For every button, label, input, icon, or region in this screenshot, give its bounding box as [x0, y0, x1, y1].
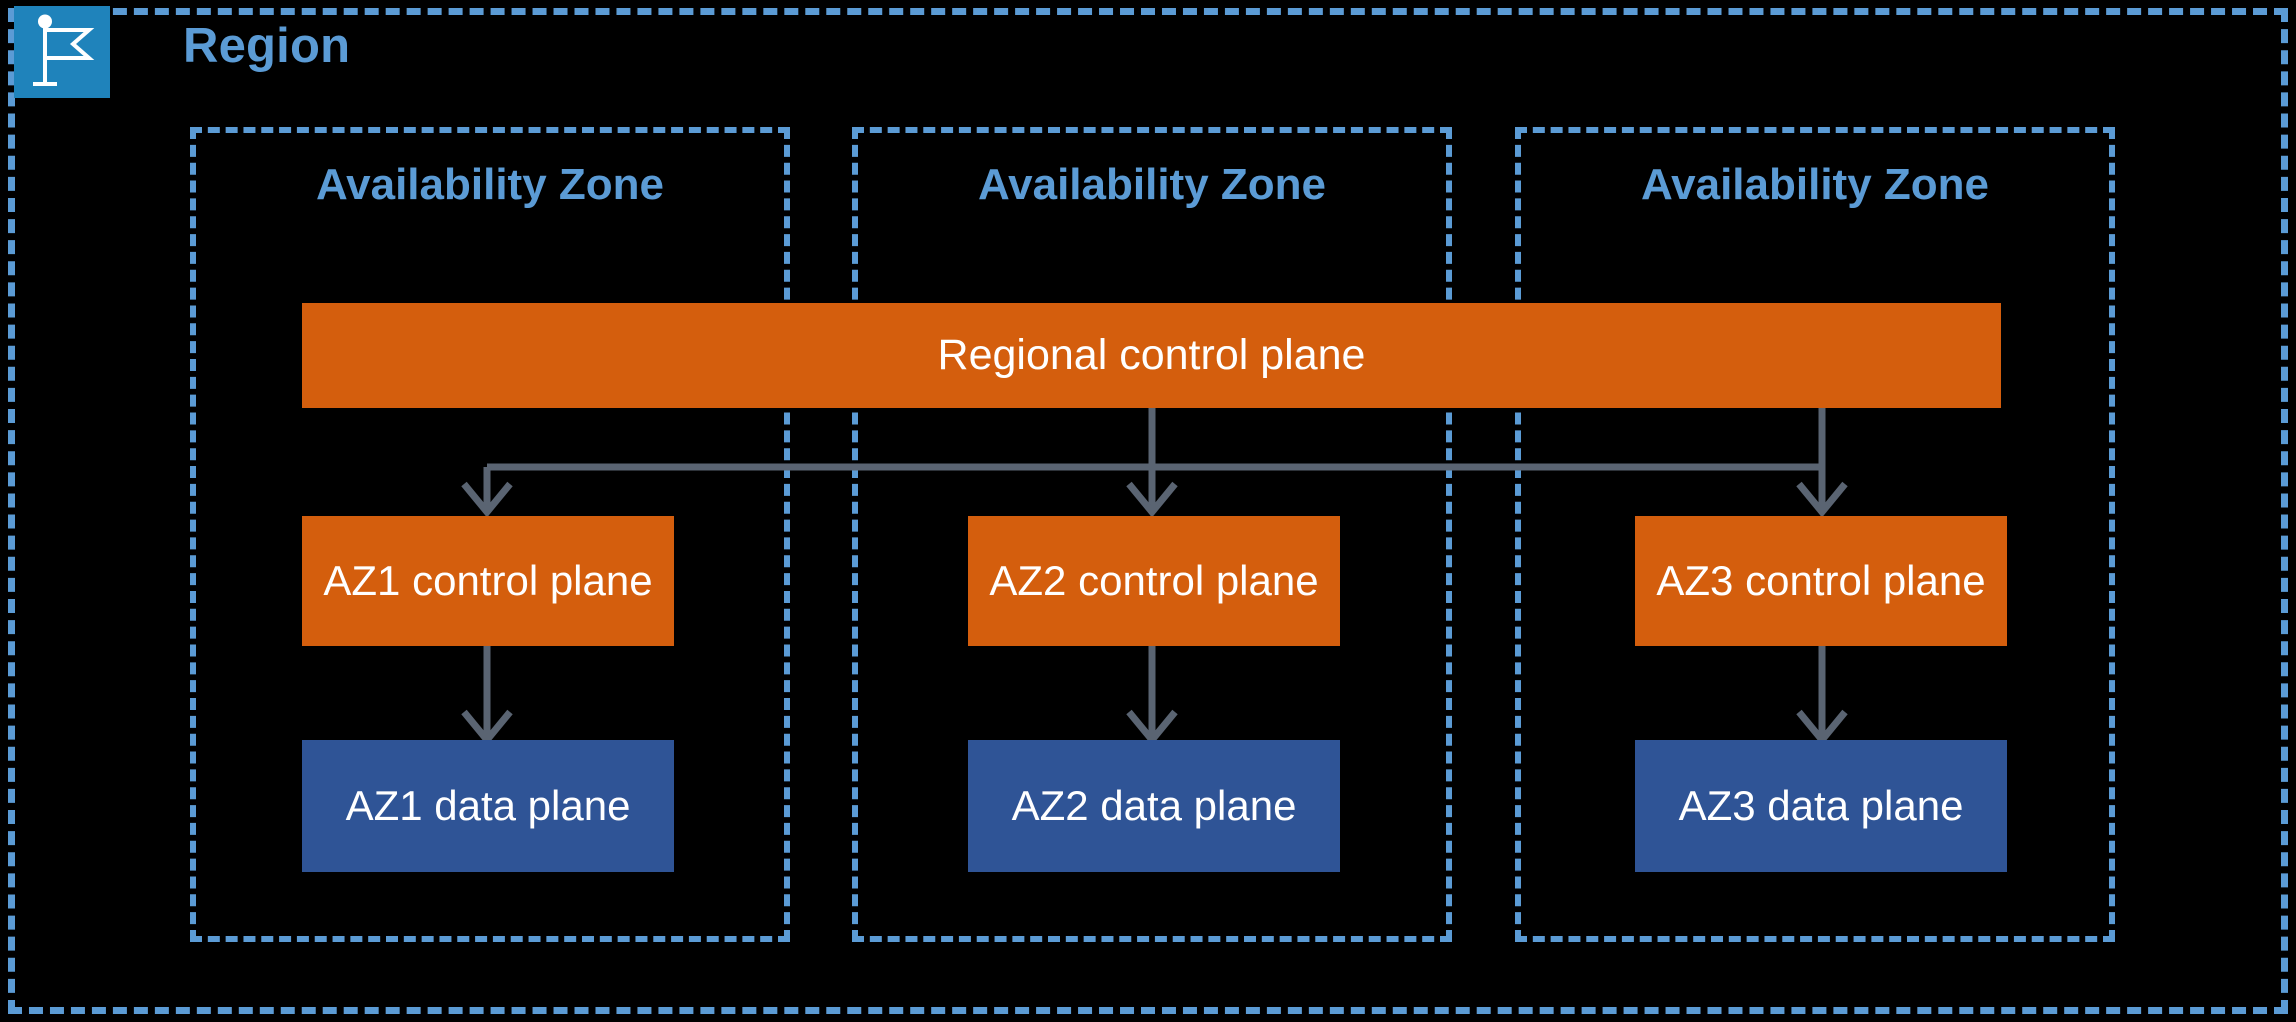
az1-data-plane-label: AZ1 data plane: [346, 782, 631, 830]
page-title: Region: [183, 18, 350, 74]
regional-control-plane-label: Regional control plane: [938, 331, 1366, 380]
availability-zone-label-3: Availability Zone: [1515, 160, 2115, 210]
regional-control-plane-node[interactable]: Regional control plane: [302, 303, 2001, 408]
az2-control-plane-node[interactable]: AZ2 control plane: [968, 516, 1340, 646]
az1-data-plane-node[interactable]: AZ1 data plane: [302, 740, 674, 872]
az2-data-plane-label: AZ2 data plane: [1012, 782, 1297, 830]
availability-zone-label-2: Availability Zone: [852, 160, 1452, 210]
az3-data-plane-node[interactable]: AZ3 data plane: [1635, 740, 2007, 872]
az3-control-plane-label: AZ3 control plane: [1656, 557, 1985, 605]
az1-control-plane-label: AZ1 control plane: [323, 557, 652, 605]
az1-control-plane-node[interactable]: AZ1 control plane: [302, 516, 674, 646]
az3-data-plane-label: AZ3 data plane: [1679, 782, 1964, 830]
az2-data-plane-node[interactable]: AZ2 data plane: [968, 740, 1340, 872]
az3-control-plane-node[interactable]: AZ3 control plane: [1635, 516, 2007, 646]
region-flag-icon: [14, 6, 110, 98]
diagram-canvas: Region Availability Zone Availability Zo…: [0, 0, 2296, 1022]
availability-zone-label-1: Availability Zone: [190, 160, 790, 210]
az2-control-plane-label: AZ2 control plane: [989, 557, 1318, 605]
